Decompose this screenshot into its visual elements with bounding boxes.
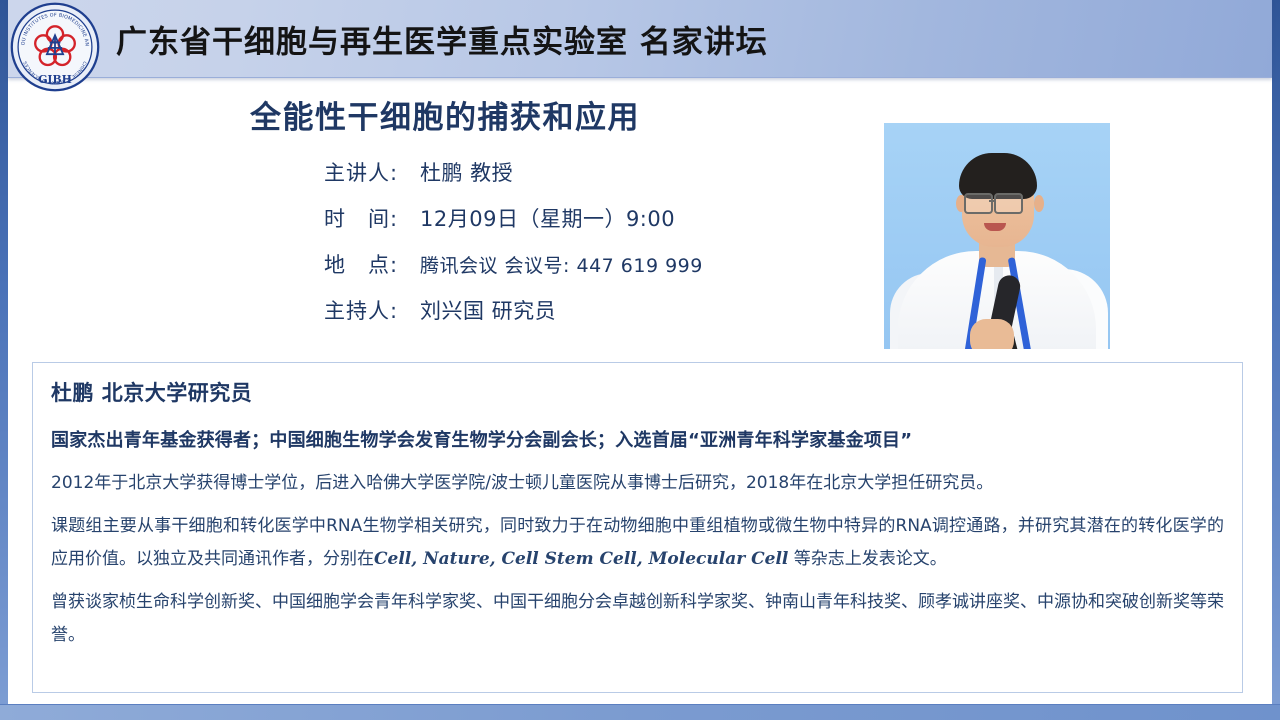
bio-name: 杜鹏 北京大学研究员 — [51, 377, 1224, 407]
bio-journal-list: Cell, Nature, Cell Stem Cell, Molecular … — [374, 549, 788, 569]
lecture-row-speaker: 主讲人:杜鹏 教授 — [324, 157, 860, 187]
lecture-row-venue-label: 地 点: — [324, 249, 420, 279]
lecture-row-host: 主持人:刘兴国 研究员 — [324, 295, 860, 325]
lecture-row-venue: 地 点:腾讯会议 会议号: 447 619 999 — [324, 249, 860, 279]
photo-glasses-right-lens — [994, 193, 1023, 214]
speaker-bio-panel: 杜鹏 北京大学研究员 国家杰出青年基金获得者；中国细胞生物学会发育生物学分会副会… — [32, 362, 1243, 693]
lecture-title: 全能性干细胞的捕获和应用 — [0, 92, 860, 137]
lecture-row-time-value: 12月09日（星期一）9:00 — [420, 207, 675, 231]
photo-glasses-left-lens — [964, 193, 993, 214]
header-banner: 广东省干细胞与再生医学重点实验室 名家讲坛 — [8, 0, 1272, 78]
lecture-poster-slide: 广东省干细胞与再生医学重点实验室 名家讲坛 GUANGZHOU INSTITUT… — [0, 0, 1280, 720]
photo-hand — [970, 319, 1014, 349]
gibh-logo-icon: GUANGZHOU INSTITUTES OF BIOMEDICINE AND … — [10, 2, 100, 92]
lecture-row-host-value: 刘兴国 研究员 — [420, 299, 556, 323]
bio-paragraph-research: 课题组主要从事干细胞和转化医学中RNA生物学相关研究，同时致力于在动物细胞中重组… — [51, 510, 1224, 576]
photo-glasses-bridge — [989, 200, 995, 202]
lecture-row-host-label: 主持人: — [324, 295, 420, 325]
bio-paragraph-awards: 曾获谈家桢生命科学创新奖、中国细胞学会青年科学家奖、中国干细胞分会卓越创新科学家… — [51, 586, 1224, 652]
lecture-detail-list: 主讲人:杜鹏 教授 时 间:12月09日（星期一）9:00 地 点:腾讯会议 会… — [0, 157, 860, 325]
header-title: 广东省干细胞与再生医学重点实验室 名家讲坛 — [116, 16, 768, 61]
bottom-blue-bar — [0, 704, 1280, 720]
bio-paragraph-education: 2012年于北京大学获得博士学位，后进入哈佛大学医学院/波士顿儿童医院从事博士后… — [51, 467, 1224, 500]
lecture-row-time-label: 时 间: — [324, 203, 420, 233]
lecture-row-speaker-value: 杜鹏 教授 — [420, 161, 513, 185]
bio-honors: 国家杰出青年基金获得者；中国细胞生物学会发育生物学分会副会长；入选首届“亚洲青年… — [51, 426, 1224, 452]
lecture-info-block: 全能性干细胞的捕获和应用 主讲人:杜鹏 教授 时 间:12月09日（星期一）9:… — [0, 92, 860, 341]
logo-acronym-text: GIBH — [38, 73, 72, 86]
lecture-row-venue-value: 腾讯会议 会议号: 447 619 999 — [420, 255, 703, 277]
photo-ear-right — [1034, 195, 1044, 212]
right-blue-rail — [1272, 0, 1280, 720]
speaker-photo — [884, 123, 1110, 349]
lecture-row-time: 时 间:12月09日（星期一）9:00 — [324, 203, 860, 233]
bio-research-text-after: 等杂志上发表论文。 — [788, 549, 946, 569]
lecture-row-speaker-label: 主讲人: — [324, 157, 420, 187]
